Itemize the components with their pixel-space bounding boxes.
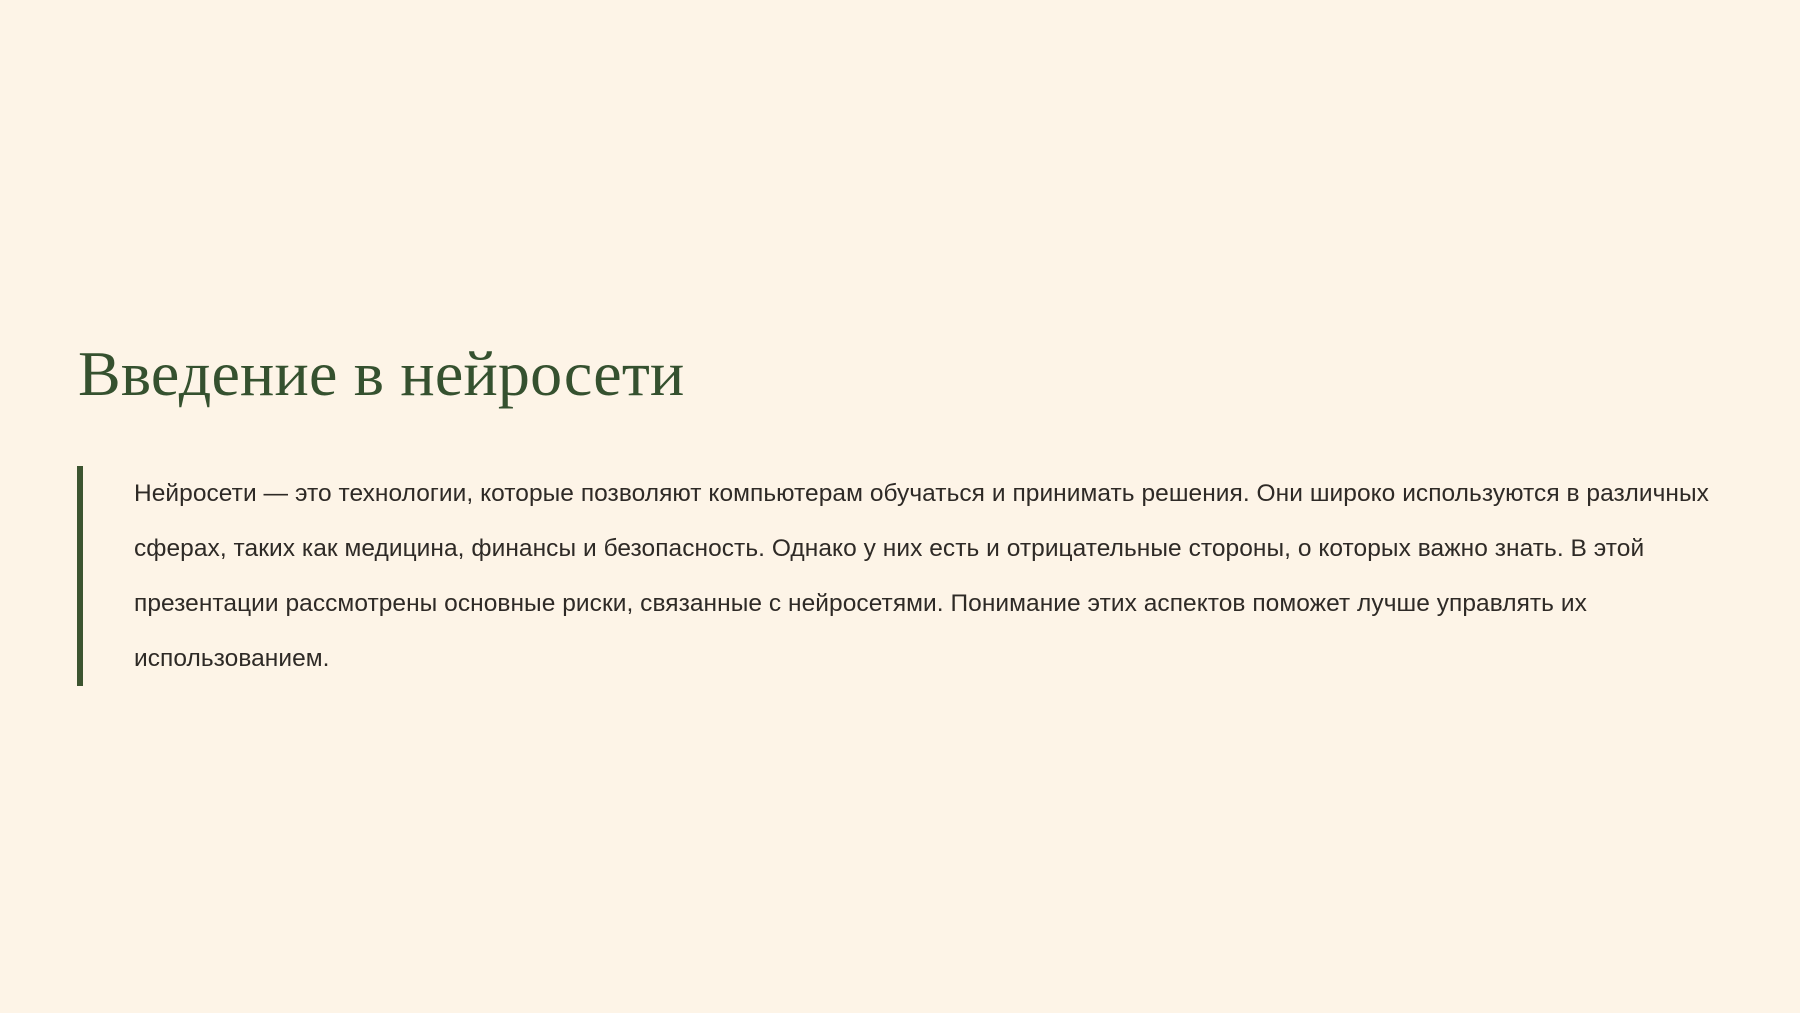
body-paragraph: Нейросети — это технологии, которые позв… — [83, 466, 1717, 686]
presentation-slide: Введение в нейросети Нейросети — это тех… — [0, 0, 1800, 1013]
body-callout-block: Нейросети — это технологии, которые позв… — [77, 466, 1717, 686]
page-title: Введение в нейросети — [78, 340, 685, 407]
